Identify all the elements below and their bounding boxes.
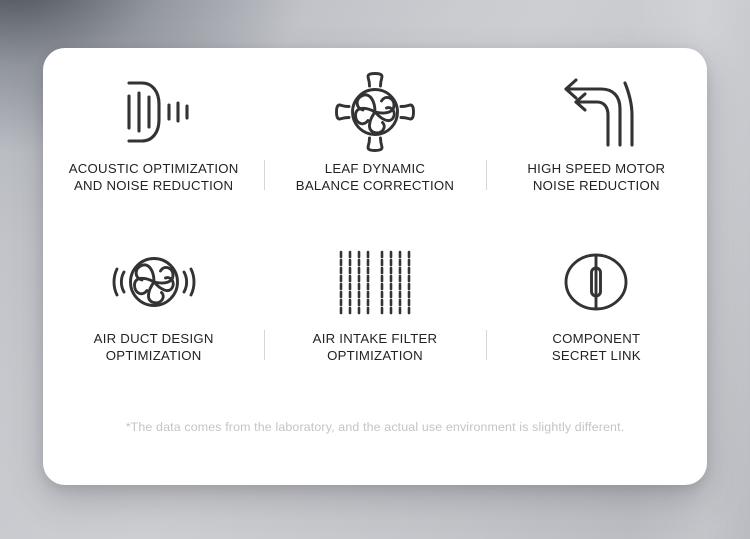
feature-cell-air-intake-filter[interactable]: AIR INTAKE FILTEROPTIMIZATION — [264, 218, 485, 388]
feature-caption: HIGH SPEED MOTORNOISE REDUCTION — [527, 160, 665, 194]
feature-cell-component-secret-link[interactable]: COMPONENTSECRET LINK — [486, 218, 707, 388]
feature-caption-line2: BALANCE CORRECTION — [296, 178, 454, 193]
speaker-soundwave-icon — [111, 66, 197, 158]
fan-balance-weights-icon — [332, 66, 418, 158]
feature-caption: AIR DUCT DESIGNOPTIMIZATION — [94, 330, 214, 364]
feature-caption-line2: OPTIMIZATION — [327, 348, 423, 363]
feature-caption: AIR INTAKE FILTEROPTIMIZATION — [313, 330, 438, 364]
feature-caption: COMPONENTSECRET LINK — [552, 330, 641, 364]
feature-caption-line1: ACOUSTIC OPTIMIZATION — [69, 161, 239, 176]
airflow-arrows-icon — [553, 66, 639, 158]
feature-caption-line2: NOISE REDUCTION — [533, 178, 660, 193]
feature-caption-line2: AND NOISE REDUCTION — [74, 178, 233, 193]
footnote-text: *The data comes from the laboratory, and… — [43, 420, 707, 434]
component-capsule-icon — [556, 236, 636, 328]
feature-cell-air-duct-design[interactable]: AIR DUCT DESIGNOPTIMIZATION — [43, 218, 264, 388]
feature-caption-line1: LEAF DYNAMIC — [325, 161, 425, 176]
feature-cell-acoustic-optimization[interactable]: ACOUSTIC OPTIMIZATIONAND NOISE REDUCTION — [43, 48, 264, 218]
feature-caption-line2: SECRET LINK — [552, 348, 641, 363]
feature-caption-line2: OPTIMIZATION — [106, 348, 202, 363]
page-background: ACOUSTIC OPTIMIZATIONAND NOISE REDUCTION — [0, 0, 750, 539]
feature-caption: LEAF DYNAMICBALANCE CORRECTION — [296, 160, 454, 194]
feature-cell-high-speed-motor[interactable]: HIGH SPEED MOTORNOISE REDUCTION — [486, 48, 707, 218]
feature-cell-leaf-dynamic-balance[interactable]: LEAF DYNAMICBALANCE CORRECTION — [264, 48, 485, 218]
impeller-airduct-icon — [109, 236, 199, 328]
feature-caption-line1: AIR DUCT DESIGN — [94, 331, 214, 346]
feature-card: ACOUSTIC OPTIMIZATIONAND NOISE REDUCTION — [43, 48, 707, 485]
feature-caption: ACOUSTIC OPTIMIZATIONAND NOISE REDUCTION — [69, 160, 239, 194]
feature-grid: ACOUSTIC OPTIMIZATIONAND NOISE REDUCTION — [43, 48, 707, 388]
feature-caption-line1: HIGH SPEED MOTOR — [527, 161, 665, 176]
feature-caption-line1: COMPONENT — [552, 331, 640, 346]
feature-caption-line1: AIR INTAKE FILTER — [313, 331, 438, 346]
mesh-filter-icon — [336, 236, 414, 328]
